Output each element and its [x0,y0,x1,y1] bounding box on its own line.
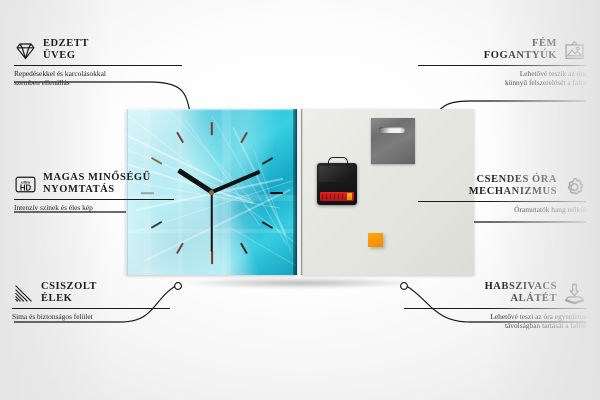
hour-tick [270,192,283,194]
feature-polished-edges: CSISZOLT ÉLEK Sima és biztonságos felüle… [12,281,170,321]
feature-description-line1: Lehetővé teszi az óra egyenletes [404,312,586,321]
feature-title-line2: NYOMTATÁS [43,184,151,196]
hour-tick [150,221,161,229]
feature-title-line2: MECHANIZMUS [469,186,557,198]
feature-title-line2: ÜVEG [43,50,89,62]
ultra-hd-icon: ultra HD [14,173,37,196]
feature-metal-handles: FÉM FOGANTYÚK Lehetővé teszik az óra kön… [418,38,586,87]
hour-tick [176,243,184,254]
foam-pad [368,233,383,247]
diamond-icon [14,39,37,62]
feature-title-line1: HABSZIVACS [485,281,557,293]
gear-icon [563,175,586,198]
feature-title-line1: MAGAS MINŐSÉGŰ [43,172,151,184]
hour-tick [240,243,248,254]
feature-title-line2: ALÁTÉT [485,293,557,305]
hour-tick [261,157,272,165]
feature-tempered-glass: EDZETT ÜVEG Repedésekkel és karcolásokka… [14,38,182,87]
feature-title-line2: ÉLEK [41,293,97,305]
press-down-icon [563,282,586,305]
polished-edge-icon [12,282,35,305]
feature-divider [418,65,586,66]
feature-title-line1: FÉM [484,38,557,50]
feature-divider [12,308,170,309]
feature-description-line2: könnyű felszerelését a falra [418,78,586,87]
feature-description-line1: Óramutatók hang nélkül [418,205,586,214]
feature-title-line1: CSENDES ÓRA [469,174,557,186]
feature-divider [14,199,174,200]
picture-frame-icon [563,39,586,62]
clock-center-hub [209,190,214,195]
clock-minute-hand [211,170,261,194]
clock-second-hand [211,192,213,252]
hour-tick [210,122,212,135]
feature-divider [14,65,182,66]
infographic-canvas: EDZETT ÜVEG Repedésekkel és karcolásokka… [0,0,600,400]
clock-mechanism [317,163,357,205]
feature-description-line1: Repedésekkel és karcolásokkal [14,69,182,78]
feature-title-line2: FOGANTYÚK [484,50,557,62]
metal-hanger [371,118,415,164]
feature-description-line1: Intenzív színek és éles kép [14,203,174,212]
hour-tick [261,221,272,229]
feature-title-line1: CSISZOLT [41,281,97,293]
clock-hour-hand [177,168,213,194]
hour-tick [240,132,248,143]
feature-description-line1: Sima és biztonságos felület [12,312,170,321]
hour-tick [176,132,184,143]
feature-title-line1: EDZETT [43,38,89,50]
feature-high-quality-print: ultra HD MAGAS MINŐSÉGŰ NYOMTATÁS Intenz… [14,172,174,212]
feature-foam-pad: HABSZIVACS ALÁTÉT Lehetővé teszi az óra … [404,281,586,330]
feature-divider [404,308,586,309]
ultra-hd-icon-large-text: HD [20,183,32,192]
hour-tick [150,157,161,165]
feature-divider [418,201,586,202]
feature-description-line2: távolságban tartását a faltól [404,321,586,330]
feature-description-line2: szemben ellenállás [14,78,182,87]
feature-silent-mechanism: CSENDES ÓRA MECHANIZMUS Óramutatók hang … [418,174,586,214]
hour-tick [210,251,212,264]
feature-description-line1: Lehetővé teszik az óra [418,69,586,78]
